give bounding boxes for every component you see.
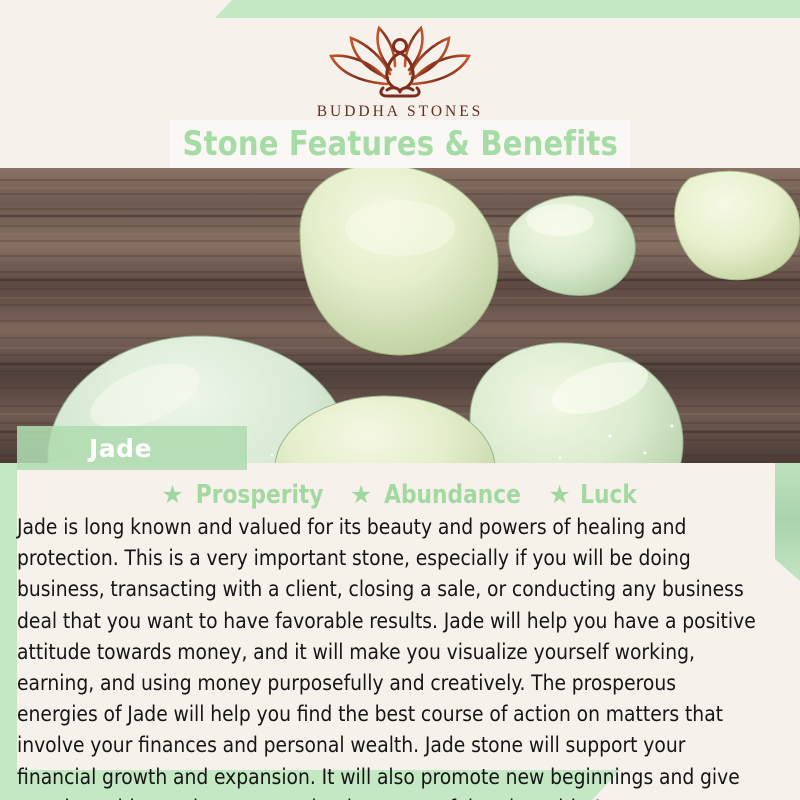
star-icon: ★ xyxy=(161,483,183,508)
benefit-item: ★ Luck xyxy=(548,480,638,510)
benefit-label: Prosperity xyxy=(195,480,323,510)
benefits-row: ★ Prosperity ★ Abundance ★ Luck xyxy=(0,480,800,510)
star-icon: ★ xyxy=(548,483,570,508)
title-banner: Stone Features & Benefits xyxy=(170,120,630,168)
benefit-label: Abundance xyxy=(384,480,521,510)
benefit-item: ★ Abundance xyxy=(350,480,527,510)
brand-logo-block: BUDDHA STONES xyxy=(0,22,800,121)
stone-name-band: Jade xyxy=(17,426,247,470)
benefit-item: ★ Prosperity xyxy=(161,480,328,510)
decor-band-top-right xyxy=(215,0,800,18)
brand-name: BUDDHA STONES xyxy=(0,103,800,121)
stone-description: Jade is long known and valued for its be… xyxy=(17,512,756,800)
stone-name-label: Jade xyxy=(89,434,152,463)
infographic-page: BUDDHA STONES Stone Features & Benefits xyxy=(0,0,800,800)
star-icon: ★ xyxy=(350,483,372,508)
lotus-meditation-icon xyxy=(0,22,800,98)
benefit-label: Luck xyxy=(580,480,637,510)
decor-band-right xyxy=(775,459,800,581)
page-title: Stone Features & Benefits xyxy=(182,124,617,164)
stone-photo xyxy=(0,168,800,463)
